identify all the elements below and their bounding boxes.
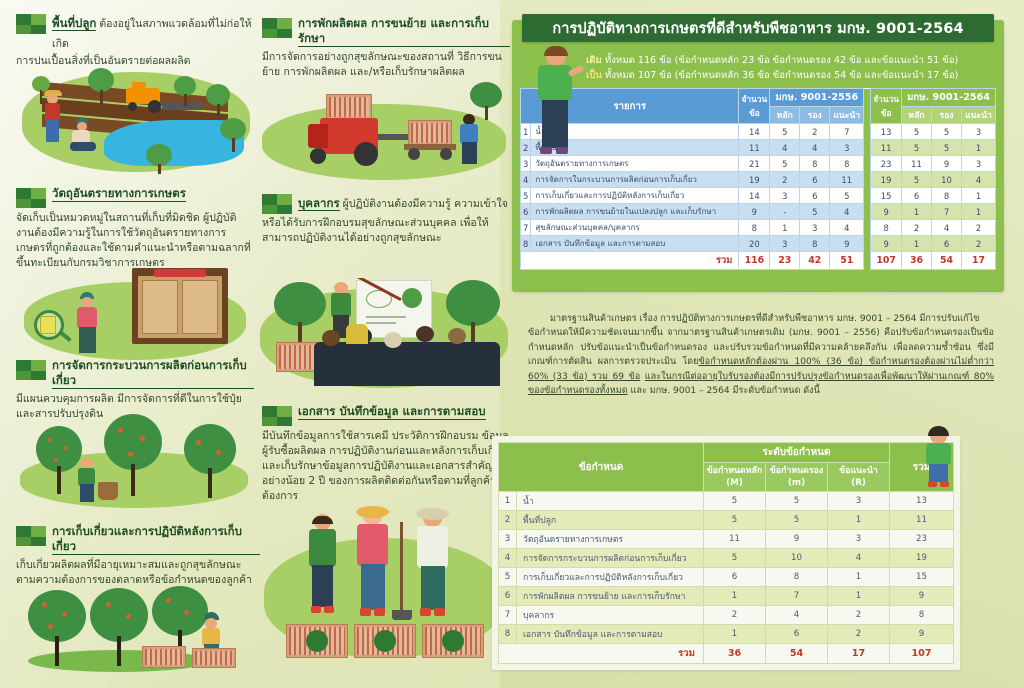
- row-number: 1: [499, 492, 517, 511]
- header-count-new: จำนวนข้อ: [871, 89, 902, 124]
- header-group-new: มกษ. 9001-2564: [902, 89, 996, 107]
- cell-value-1: 5: [766, 511, 828, 530]
- table-row: 3วัตถุอันตรายทางการเกษตร21588231193: [521, 156, 996, 172]
- cell-old-0: 19: [739, 172, 770, 188]
- cell-new-0: 23: [871, 156, 902, 172]
- requirement-level-table: ข้อกำหนด ระดับข้อกำหนด รวม ข้อกำหนดหลัก …: [498, 442, 954, 664]
- section-header: พื้นที่ปลูกต้องอยู่ในสภาพแวดล้อมที่ไม่ก่…: [16, 12, 254, 52]
- cell-value-1: 10: [766, 549, 828, 568]
- section-header: การเก็บเกี่ยวและการปฏิบัติหลังการเก็บเกี…: [16, 524, 260, 555]
- row-item: การเก็บเกี่ยวและการปฏิบัติหลังการเก็บเกี…: [517, 568, 704, 587]
- req-header-minor: ข้อกำหนดรอง (m): [766, 463, 828, 492]
- section-personnel: บุคลากรผู้ปฏิบัติงานต้องมีความรู้ ความเข…: [262, 192, 510, 246]
- cell-old-1: 3: [770, 188, 800, 204]
- cell-new-1: 5: [902, 140, 932, 156]
- section-header: เอกสาร บันทึกข้อมูล และการตามสอบ: [262, 404, 514, 426]
- header-group-old: มกษ. 9001-2556: [770, 89, 864, 107]
- row-number: 8: [499, 625, 517, 644]
- cell-value-2: 1: [828, 587, 890, 606]
- cell-new-0: 13: [871, 124, 902, 140]
- cell-old-3: 11: [830, 172, 864, 188]
- illustration-chemical-storage: [14, 268, 258, 364]
- farmer-figure-green: [302, 514, 342, 630]
- req-header-rec-l2: (R): [851, 478, 866, 488]
- paragraph-line-6: และ มกษ. 9001 – 2564 มีระดับข้อกำหนด ดัง…: [631, 386, 820, 396]
- row-item: เอกสาร บันทึกข้อมูล และการตามสอบ: [531, 236, 739, 252]
- cell-old-2: 3: [800, 220, 830, 236]
- req-header-major-l1: ข้อกำหนดหลัก: [707, 466, 763, 476]
- header-new-minor: รอง: [932, 107, 962, 124]
- table-row: 7สุขลักษณะส่วนบุคคล/บุคลากร81348242: [521, 220, 996, 236]
- section-planting-area: พื้นที่ปลูกต้องอยู่ในสภาพแวดล้อมที่ไม่ก่…: [16, 12, 254, 69]
- standards-comparison-panel: การปฏิบัติทางการเกษตรที่ดีสำหรับพืชอาหาร…: [512, 20, 1004, 292]
- total-0: 36: [704, 644, 766, 664]
- cell-old-2: 2: [800, 124, 830, 140]
- row-item: บุคลากร: [517, 606, 704, 625]
- cell-new-1: 2: [902, 220, 932, 236]
- illustration-farmer-team: [258, 498, 512, 688]
- girl-figure: [920, 428, 956, 488]
- table-gap: [864, 124, 871, 270]
- cell-old-0: 9: [739, 204, 770, 220]
- table-row: 6การพักผลิตผล การขนย้ายในแปลงปลูก และเก็…: [521, 204, 996, 220]
- cell-old-1: 3: [770, 236, 800, 252]
- total-new-0: 107: [871, 252, 902, 270]
- illustration-farm-field: [14, 62, 258, 180]
- cell-old-0: 14: [739, 188, 770, 204]
- cell-old-0: 20: [739, 236, 770, 252]
- row-number: 6: [521, 204, 531, 220]
- panel-subtitle-new: เป็น ทั้งหมด 107 ข้อ (ข้อกำหนดหลัก 36 ข้…: [586, 69, 986, 84]
- cell-value-2: 2: [828, 625, 890, 644]
- cell-value-3: 23: [890, 530, 954, 549]
- worker-figure: [74, 458, 100, 502]
- cell-old-0: 8: [739, 220, 770, 236]
- cell-old-0: 21: [739, 156, 770, 172]
- comparison-table-area: รายการ จำนวนข้อ มกษ. 9001-2556 จำนวนข้อ …: [520, 88, 996, 270]
- req-header-minor-l1: ข้อกำหนดรอง: [770, 466, 823, 476]
- cell-value-2: 3: [828, 530, 890, 549]
- cell-value-1: 4: [766, 606, 828, 625]
- row-number: 4: [521, 172, 531, 188]
- header-count-old: จำนวนข้อ: [739, 89, 770, 124]
- total-new-1: 36: [902, 252, 932, 270]
- table-row: 7บุคลากร2428: [499, 606, 954, 625]
- cell-old-1: -: [770, 204, 800, 220]
- row-item: พื้นที่ปลูก: [517, 511, 704, 530]
- table-row: 2พื้นที่ปลูก55111: [499, 511, 954, 530]
- table-gap: [864, 89, 871, 124]
- cell-value-3: 9: [890, 625, 954, 644]
- cell-value-0: 6: [704, 568, 766, 587]
- cell-value-3: 9: [890, 587, 954, 606]
- explanatory-paragraph: มาตรฐานสินค้าเกษตร เรื่อง การปฏิบัติทางก…: [528, 312, 994, 398]
- section-holding-transport-storage: การพักผลิตผล การขนย้าย และการเก็บรักษา ม…: [262, 16, 510, 80]
- illustration-orchard-fertilizing: [14, 396, 258, 516]
- total-2: 17: [828, 644, 890, 664]
- cell-new-3: 2: [962, 220, 996, 236]
- cell-new-2: 6: [932, 236, 962, 252]
- cell-new-2: 4: [932, 220, 962, 236]
- squares-icon: [262, 194, 292, 214]
- cell-old-1: 5: [770, 124, 800, 140]
- row-number: 2: [499, 511, 517, 530]
- cell-value-2: 1: [828, 568, 890, 587]
- section-body-inline: ผู้ปฏิบัติงานต้องมีความรู้ ความเข้าใจ: [343, 198, 508, 210]
- illustration-harvesting: [6, 584, 256, 688]
- farmer-figure-red: [350, 508, 396, 632]
- section-title: การจัดการกระบวนการผลิตก่อนการเก็บเกี่ยว: [52, 358, 254, 389]
- cell-new-2: 5: [932, 140, 962, 156]
- squares-icon: [16, 14, 46, 34]
- cell-old-1: 2: [770, 172, 800, 188]
- cell-old-3: 9: [830, 236, 864, 252]
- section-body: จัดเก็บเป็นหมวดหมู่ในสถานที่เก็บที่มิดชิ…: [16, 211, 254, 271]
- cell-new-2: 10: [932, 172, 962, 188]
- cell-value-0: 1: [704, 587, 766, 606]
- cell-old-2: 5: [800, 204, 830, 220]
- old-text: ทั้งหมด 116 ข้อ (ข้อกำหนดหลัก 23 ข้อ ข้อ…: [605, 55, 958, 66]
- row-number: 7: [521, 220, 531, 236]
- cell-new-3: 1: [962, 204, 996, 220]
- squares-icon: [16, 526, 46, 546]
- illustration-transport: [258, 76, 510, 188]
- row-item: การพักผลิตผล การขนย้ายในแปลงปลูก และเก็บ…: [531, 204, 739, 220]
- cell-new-2: 7: [932, 204, 962, 220]
- cell-value-1: 9: [766, 530, 828, 549]
- cell-new-3: 1: [962, 188, 996, 204]
- req-header-minor-l2: (m): [788, 478, 805, 488]
- squares-icon: [262, 406, 292, 426]
- cell-value-0: 5: [704, 549, 766, 568]
- row-number: 5: [521, 188, 531, 204]
- section-header: บุคลากรผู้ปฏิบัติงานต้องมีความรู้ ความเข…: [262, 192, 510, 214]
- row-item: การเก็บเกี่ยวและการปฏิบัติหลังการเก็บเกี…: [531, 188, 739, 204]
- totals-label: รวม: [499, 644, 704, 664]
- header-old-rec: แนะนำ: [830, 107, 864, 124]
- table-row: 1น้ำ55313: [499, 492, 954, 511]
- farmer-figure: [40, 90, 66, 146]
- cell-new-0: 9: [871, 204, 902, 220]
- header-old-major: หลัก: [770, 107, 800, 124]
- section-title: เอกสาร บันทึกข้อมูล และการตามสอบ: [298, 404, 486, 420]
- requirement-table-head: ข้อกำหนด ระดับข้อกำหนด รวม ข้อกำหนดหลัก …: [499, 443, 954, 492]
- section-agri-hazardous-materials: วัตถุอันตรายทางการเกษตร จัดเก็บเป็นหมวดห…: [16, 186, 254, 271]
- row-number: 6: [499, 587, 517, 606]
- table-row: 5การเก็บเกี่ยวและการปฏิบัติหลังการเก็บเก…: [499, 568, 954, 587]
- cell-new-3: 3: [962, 156, 996, 172]
- cell-old-3: 5: [830, 188, 864, 204]
- section-header: การพักผลิตผล การขนย้าย และการเก็บรักษา: [262, 16, 510, 47]
- total-3: 107: [890, 644, 954, 664]
- table-row: 4การจัดการกระบวนการผลิตก่อนการเก็บเกี่ยว…: [499, 549, 954, 568]
- total-old-2: 42: [800, 252, 830, 270]
- table-row: 4การจัดการในกระบวนการผลิตก่อนการเก็บเกี่…: [521, 172, 996, 188]
- requirement-level-table-wrap: ข้อกำหนด ระดับข้อกำหนด รวม ข้อกำหนดหลัก …: [492, 436, 960, 670]
- cell-value-2: 3: [828, 492, 890, 511]
- table-row: 2พื้นที่ปลูก1144311551: [521, 140, 996, 156]
- infographic-page: พื้นที่ปลูกต้องอยู่ในสภาพแวดล้อมที่ไม่ก่…: [0, 0, 1024, 688]
- header-new-rec: แนะนำ: [962, 107, 996, 124]
- table-row: 8เอกสาร บันทึกข้อมูล และการตามสอบ2038991…: [521, 236, 996, 252]
- new-tag: เป็น: [586, 70, 602, 81]
- section-title: การพักผลิตผล การขนย้าย และการเก็บรักษา: [298, 16, 510, 47]
- section-body: หรือได้รับการฝึกอบรมสุขลักษณะส่วนบุคคล เ…: [262, 216, 510, 246]
- table-row: 3วัตถุอันตรายทางการเกษตร119323: [499, 530, 954, 549]
- section-header: วัตถุอันตรายทางการเกษตร: [16, 186, 254, 208]
- section-title: การเก็บเกี่ยวและการปฏิบัติหลังการเก็บเกี…: [52, 524, 260, 555]
- row-item: น้ำ: [517, 492, 704, 511]
- cell-value-2: 1: [828, 511, 890, 530]
- row-item: วัตถุอันตรายทางการเกษตร: [517, 530, 704, 549]
- total-1: 54: [766, 644, 828, 664]
- cell-value-0: 5: [704, 492, 766, 511]
- cell-new-3: 3: [962, 124, 996, 140]
- cell-old-0: 14: [739, 124, 770, 140]
- cell-old-1: 1: [770, 220, 800, 236]
- req-header-row-1: ข้อกำหนด ระดับข้อกำหนด รวม: [499, 443, 954, 463]
- table-row: 1น้ำ1452713553: [521, 124, 996, 140]
- row-item: การจัดการในกระบวนการผลิตก่อนการเก็บเกี่ย…: [531, 172, 739, 188]
- cell-old-0: 11: [739, 140, 770, 156]
- row-item: การจัดการกระบวนการผลิตก่อนการเก็บเกี่ยว: [517, 549, 704, 568]
- req-header-rec: ข้อแนะนำ (R): [828, 463, 890, 492]
- total-old-3: 51: [830, 252, 864, 270]
- section-title: พื้นที่ปลูก: [52, 16, 96, 31]
- cell-new-1: 5: [902, 124, 932, 140]
- table-row: 6การพักผลิตผล การขนย้าย และการเก็บรักษา1…: [499, 587, 954, 606]
- row-number: 7: [499, 606, 517, 625]
- section-harvest-and-post-harvest: การเก็บเกี่ยวและการปฏิบัติหลังการเก็บเกี…: [16, 524, 260, 588]
- cell-new-1: 11: [902, 156, 932, 172]
- illustration-training-session: [256, 278, 512, 400]
- cell-old-3: 7: [830, 124, 864, 140]
- seated-figure: [68, 118, 102, 154]
- cell-value-0: 1: [704, 625, 766, 644]
- panel-title: การปฏิบัติทางการเกษตรที่ดีสำหรับพืชอาหาร…: [522, 14, 994, 42]
- cell-value-3: 15: [890, 568, 954, 587]
- cell-old-1: 5: [770, 156, 800, 172]
- cell-value-3: 11: [890, 511, 954, 530]
- row-number: 3: [521, 156, 531, 172]
- new-text: ทั้งหมด 107 ข้อ (ข้อกำหนดหลัก 36 ข้อ ข้อ…: [605, 70, 958, 81]
- total-old-1: 23: [770, 252, 800, 270]
- cell-old-2: 6: [800, 172, 830, 188]
- cell-new-3: 2: [962, 236, 996, 252]
- cell-old-1: 4: [770, 140, 800, 156]
- panel-subtitle-old: เดิม ทั้งหมด 116 ข้อ (ข้อกำหนดหลัก 23 ข้…: [586, 54, 986, 69]
- req-header-major-l2: (M): [726, 478, 743, 488]
- cell-value-0: 2: [704, 606, 766, 625]
- section-title: วัตถุอันตรายทางการเกษตร: [52, 186, 186, 202]
- table-row: 5การเก็บเกี่ยวและการปฏิบัติหลังการเก็บเก…: [521, 188, 996, 204]
- section-header: การจัดการกระบวนการผลิตก่อนการเก็บเกี่ยว: [16, 358, 254, 389]
- totals-row: รวม365417107: [499, 644, 954, 664]
- cell-value-3: 8: [890, 606, 954, 625]
- squares-icon: [16, 188, 46, 208]
- cell-new-3: 4: [962, 172, 996, 188]
- panel-subtitle: เดิม ทั้งหมด 116 ข้อ (ข้อกำหนดหลัก 23 ข้…: [586, 54, 986, 83]
- table-header-row-1: รายการ จำนวนข้อ มกษ. 9001-2556 จำนวนข้อ …: [521, 89, 996, 107]
- old-tag: เดิม: [586, 55, 602, 66]
- req-header-group-level: ระดับข้อกำหนด: [704, 443, 890, 463]
- cell-new-0: 11: [871, 140, 902, 156]
- cell-old-2: 8: [800, 236, 830, 252]
- section-body: มีบันทึกข้อมูลการใช้สารเคมี ประวัติการฝึ…: [262, 429, 514, 504]
- cell-old-3: 4: [830, 220, 864, 236]
- requirement-table-body: 1น้ำ553132พื้นที่ปลูก551113วัตถุอันตรายท…: [499, 492, 954, 664]
- comparison-table: รายการ จำนวนข้อ มกษ. 9001-2556 จำนวนข้อ …: [520, 88, 996, 270]
- section-title: บุคลากร: [298, 196, 340, 211]
- total-old-0: 116: [739, 252, 770, 270]
- row-number: 5: [499, 568, 517, 587]
- paragraph-line-1: มาตรฐานสินค้าเกษตร เรื่อง การปฏิบัติทางก…: [528, 312, 994, 326]
- cell-value-2: 4: [828, 549, 890, 568]
- transport-worker-figure: [456, 114, 484, 164]
- cell-new-1: 1: [902, 236, 932, 252]
- squares-icon: [262, 18, 292, 38]
- cell-new-1: 6: [902, 188, 932, 204]
- total-new-2: 54: [932, 252, 962, 270]
- cell-old-2: 4: [800, 140, 830, 156]
- totals-row: รวม116234251107365417: [521, 252, 996, 270]
- cell-value-0: 5: [704, 511, 766, 530]
- req-header-rec-l1: ข้อแนะนำ: [839, 466, 878, 476]
- cell-value-1: 5: [766, 492, 828, 511]
- row-item: เอกสาร บันทึกข้อมูล และการตามสอบ: [517, 625, 704, 644]
- cell-new-1: 5: [902, 172, 932, 188]
- total-new-3: 17: [962, 252, 996, 270]
- comparison-table-head: รายการ จำนวนข้อ มกษ. 9001-2556 จำนวนข้อ …: [521, 89, 996, 124]
- cell-new-0: 9: [871, 236, 902, 252]
- cell-value-1: 6: [766, 625, 828, 644]
- cell-new-3: 1: [962, 140, 996, 156]
- totals-label: รวม: [521, 252, 739, 270]
- row-number: 8: [521, 236, 531, 252]
- cell-value-1: 7: [766, 587, 828, 606]
- presenter-figure: [530, 48, 582, 156]
- req-header-major: ข้อกำหนดหลัก (M): [704, 463, 766, 492]
- inspector-figure: [72, 292, 106, 354]
- cell-value-3: 19: [890, 549, 954, 568]
- req-header-requirement: ข้อกำหนด: [499, 443, 704, 492]
- cell-value-3: 13: [890, 492, 954, 511]
- cell-old-3: 3: [830, 140, 864, 156]
- row-item: การพักผลิตผล การขนย้าย และการเก็บรักษา: [517, 587, 704, 606]
- row-item: สุขลักษณะส่วนบุคคล/บุคลากร: [531, 220, 739, 236]
- cell-old-3: 8: [830, 156, 864, 172]
- cell-new-2: 9: [932, 156, 962, 172]
- table-row: 8เอกสาร บันทึกข้อมูล และการตามสอบ1629: [499, 625, 954, 644]
- cell-new-1: 1: [902, 204, 932, 220]
- cell-new-2: 8: [932, 188, 962, 204]
- comparison-table-body: 1น้ำ14527135532พื้นที่ปลูก11443115513วัต…: [521, 124, 996, 270]
- squares-icon: [16, 360, 46, 380]
- cell-value-0: 11: [704, 530, 766, 549]
- row-number: 3: [499, 530, 517, 549]
- cell-new-0: 15: [871, 188, 902, 204]
- cell-value-2: 2: [828, 606, 890, 625]
- cell-new-0: 8: [871, 220, 902, 236]
- cell-value-1: 8: [766, 568, 828, 587]
- section-documents-records-traceability: เอกสาร บันทึกข้อมูล และการตามสอบ มีบันทึ…: [262, 404, 514, 504]
- paragraph-line-4: ผลการตรวจประเมิน โดย: [598, 357, 699, 367]
- cell-old-3: 4: [830, 204, 864, 220]
- header-new-major: หลัก: [902, 107, 932, 124]
- header-old-minor: รอง: [800, 107, 830, 124]
- cell-new-2: 5: [932, 124, 962, 140]
- row-item: วัตถุอันตรายทางการเกษตร: [531, 156, 739, 172]
- row-number: 4: [499, 549, 517, 568]
- cell-old-2: 6: [800, 188, 830, 204]
- cell-new-0: 19: [871, 172, 902, 188]
- cell-old-2: 8: [800, 156, 830, 172]
- farmer-figure-teal: [410, 510, 456, 632]
